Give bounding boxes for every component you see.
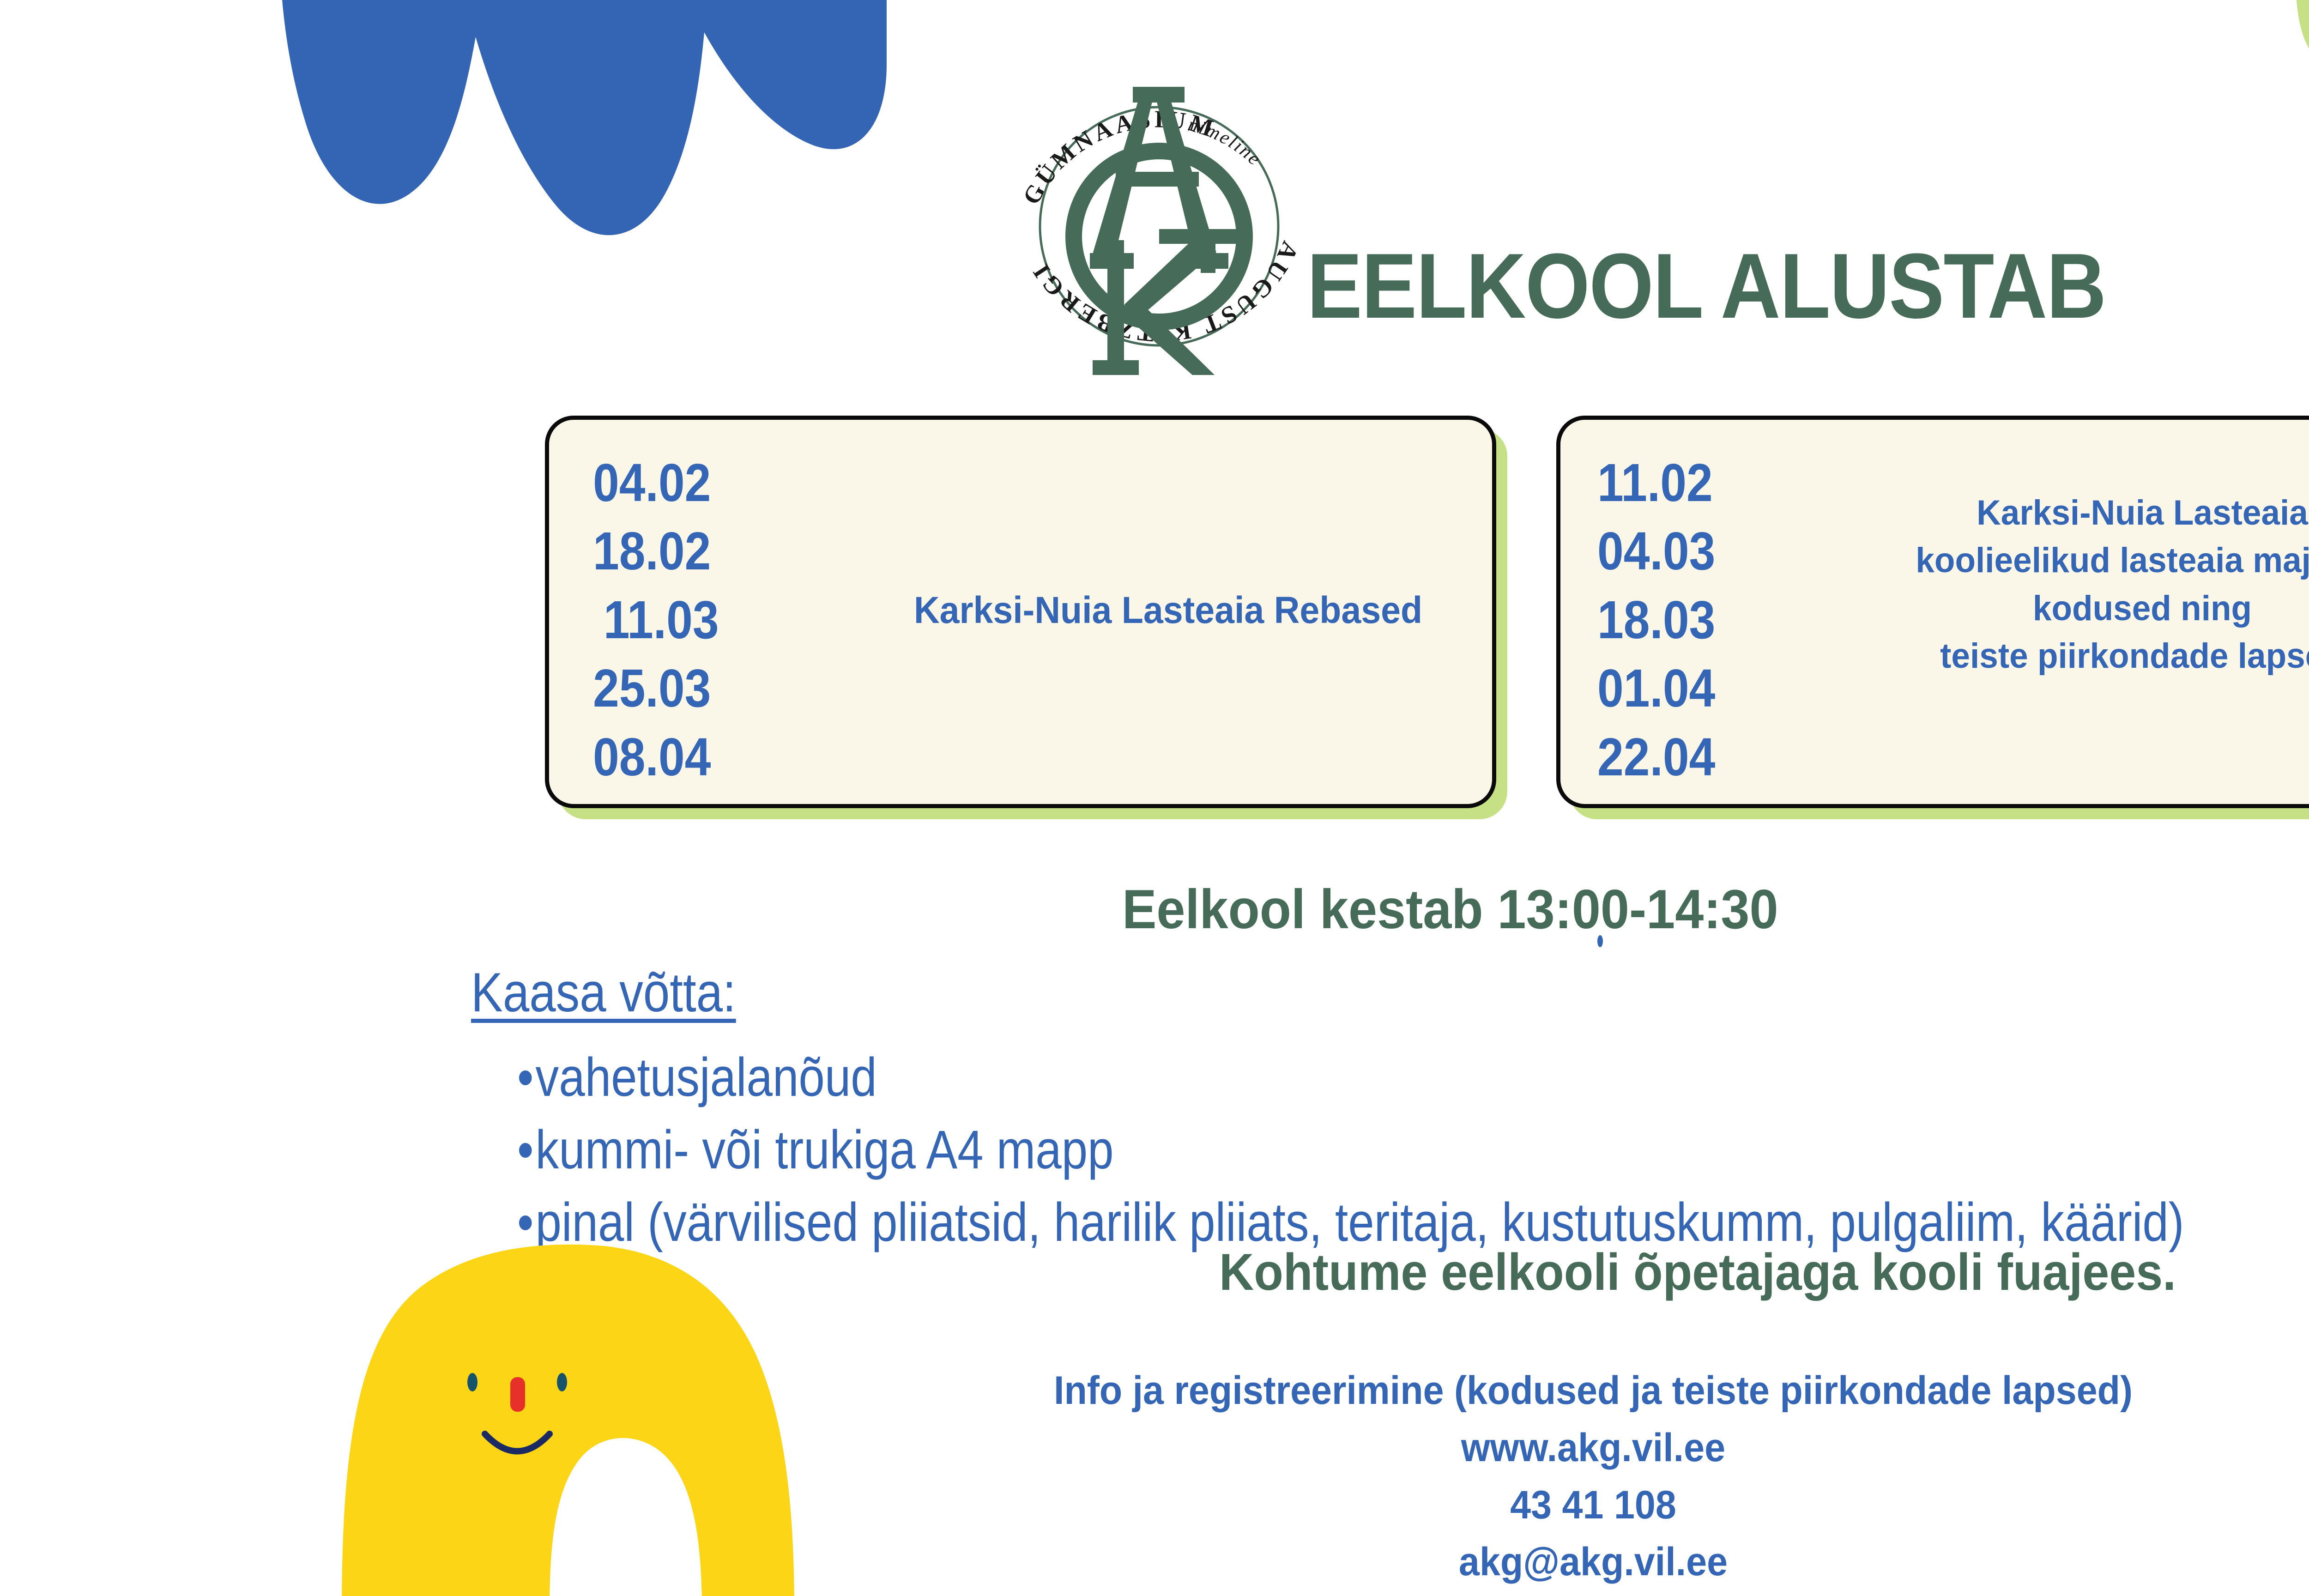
- nose: [510, 1377, 525, 1412]
- date-item: 18.02: [593, 517, 719, 585]
- date-item: 11.03: [593, 586, 719, 654]
- blue-blob-decoration: [240, 0, 887, 369]
- list-item-label: vahetusjalanõud: [536, 1047, 877, 1108]
- date-item: 25.03: [593, 654, 719, 722]
- date-item: 22.04: [1597, 723, 1715, 791]
- school-logo: AUGUST KITZBERGI GÜMNAASIUM nimeline: [1002, 65, 1316, 388]
- date-item: 04.03: [1597, 517, 1715, 585]
- bring-along-heading: Kaasa võtta:: [471, 961, 736, 1024]
- bring-along-list: •vahetusjalanõud •kummi- või trukiga A4 …: [517, 1041, 2309, 1259]
- duration-text: Eelkool kestab 13:00-14:30: [1122, 877, 1778, 941]
- page-title: EELKOOL ALUSTAB: [1307, 240, 2106, 332]
- bullet-icon: •: [517, 1041, 536, 1114]
- schedule-card-koolieelikud: 11.02 04.03 18.03 01.04 22.04 Karksi-Nui…: [1556, 416, 2309, 808]
- right-eye: [557, 1373, 567, 1391]
- footer-website[interactable]: www.akg.vil.ee: [790, 1420, 2309, 1477]
- left-eye: [467, 1373, 478, 1391]
- schedule-card-rebased: 04.02 18.02 11.03 25.03 08.04 Karksi-Nui…: [545, 416, 1496, 808]
- contact-footer: Info ja registreerimine (kodused ja teis…: [739, 1362, 2309, 1591]
- smile: [485, 1434, 550, 1451]
- group-label-right: Karksi-Nuia Lasteaia koolieelikud lastea…: [1832, 489, 2309, 680]
- stray-dot-artifact: [1597, 935, 1603, 947]
- date-item: 04.02: [593, 448, 719, 517]
- list-item: •vahetusjalanõud: [517, 1041, 2184, 1114]
- date-list-right: 11.02 04.03 18.03 01.04 22.04: [1597, 448, 1731, 791]
- date-list-left: 04.02 18.02 11.03 25.03 08.04: [593, 448, 736, 791]
- footer-phone[interactable]: 43 41 108: [790, 1477, 2309, 1534]
- group-label-left: Karksi-Nuia Lasteaia Rebased: [914, 590, 1422, 631]
- date-item: 18.03: [1597, 586, 1715, 654]
- poster-canvas: AUGUST KITZBERGI GÜMNAASIUM nimeline: [0, 0, 2309, 1596]
- date-item: 01.04: [1597, 654, 1715, 722]
- footer-email[interactable]: akg@akg.vil.ee: [790, 1534, 2309, 1591]
- footer-info-line: Info ja registreerimine (kodused ja teis…: [790, 1362, 2309, 1420]
- list-item: •kummi- või trukiga A4 mapp: [517, 1114, 2184, 1186]
- date-item: 08.04: [593, 723, 719, 791]
- meeting-point-text: Kohtume eelkooli õpetajaga kooli fuajees…: [1219, 1242, 2176, 1302]
- list-item-label: kummi- või trukiga A4 mapp: [536, 1119, 1114, 1180]
- bullet-icon: •: [517, 1114, 536, 1186]
- bullet-icon: •: [517, 1186, 536, 1259]
- date-item: 11.02: [1597, 448, 1715, 517]
